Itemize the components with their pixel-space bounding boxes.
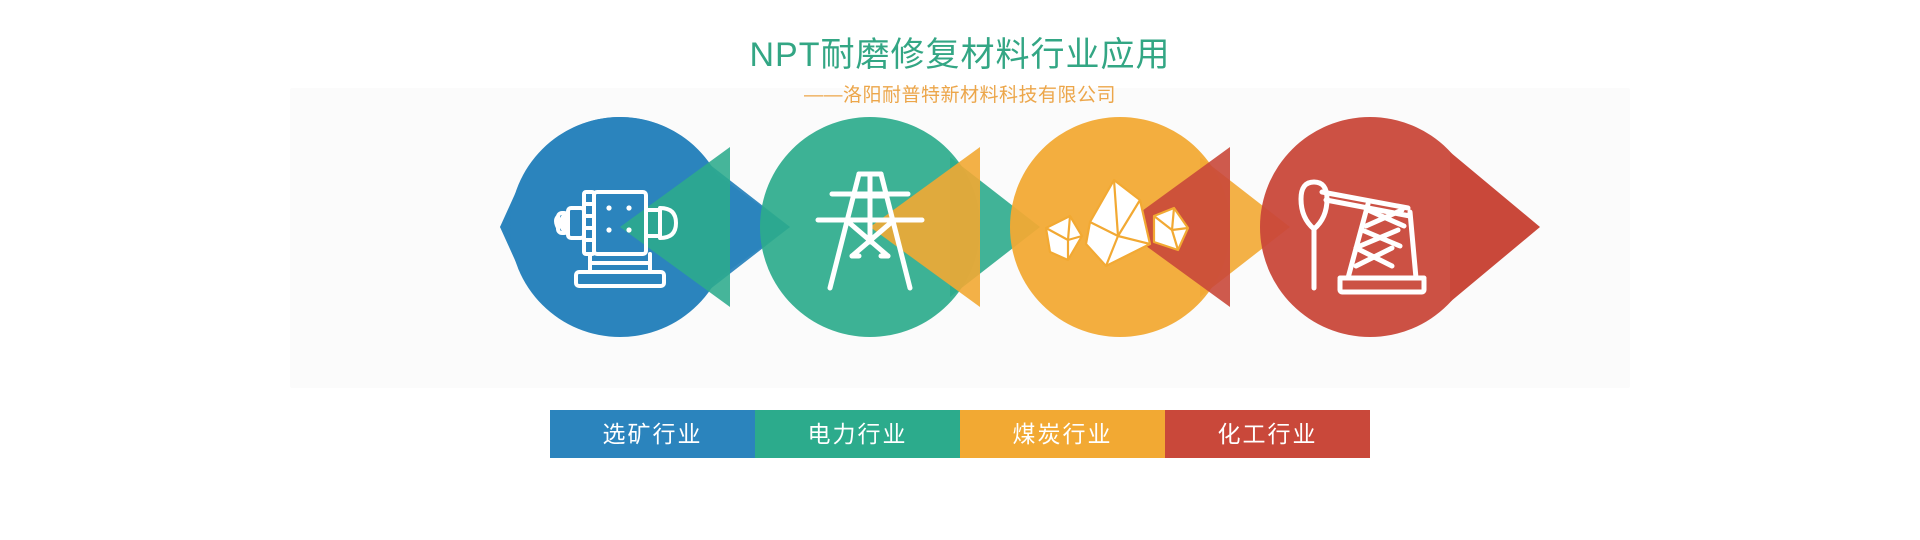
page-title: NPT耐磨修复材料行业应用 — [0, 32, 1920, 78]
industry-petal-diagram — [0, 112, 1920, 342]
label-mining-text: 选矿行业 — [603, 410, 703, 458]
header: NPT耐磨修复材料行业应用 ——洛阳耐普特新材料科技有限公司 — [0, 32, 1920, 110]
label-power-text: 电力行业 — [808, 410, 908, 458]
label-power[interactable]: 电力行业 — [755, 410, 960, 458]
label-coal[interactable]: 煤炭行业 — [960, 410, 1165, 458]
label-mining[interactable]: 选矿行业 — [550, 410, 755, 458]
banner-graphic: NPT耐磨修复材料行业应用 ——洛阳耐普特新材料科技有限公司 — [0, 0, 1920, 540]
petal-group — [500, 117, 1540, 337]
label-chemical[interactable]: 化工行业 — [1165, 410, 1370, 458]
industry-label-bar: 选矿行业 电力行业 煤炭行业 化工行业 — [550, 410, 1370, 458]
page-subtitle: ——洛阳耐普特新材料科技有限公司 — [0, 82, 1920, 110]
label-chemical-text: 化工行业 — [1218, 410, 1318, 458]
label-coal-text: 煤炭行业 — [1013, 410, 1113, 458]
